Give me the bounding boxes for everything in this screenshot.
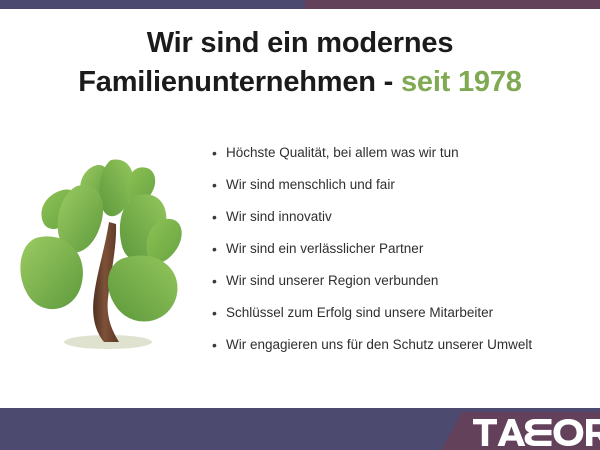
headline-line-2: Familienunternehmen - seit 1978	[0, 63, 600, 102]
headline-accent-year: seit 1978	[401, 66, 522, 98]
bullet-list: • Höchste Qualität, bei allem was wir tu…	[210, 142, 590, 366]
bullet-dot-icon: •	[210, 334, 226, 356]
tree-svg	[12, 140, 202, 352]
tree-illustration	[12, 140, 202, 352]
bullet-dot-icon: •	[210, 302, 226, 324]
brand-wordmark	[473, 419, 600, 446]
slide-headline: Wir sind ein modernes Familienunternehme…	[0, 24, 600, 103]
list-item: • Höchste Qualität, bei allem was wir tu…	[210, 142, 590, 174]
bullet-dot-icon: •	[210, 270, 226, 292]
list-item: • Wir sind menschlich und fair	[210, 174, 590, 206]
brand-logo-panel: tabor-mobile.de	[415, 408, 600, 450]
top-accent-bar	[0, 0, 600, 9]
list-item: • Wir sind innovativ	[210, 206, 590, 238]
list-item: • Wir sind ein verlässlicher Partner	[210, 238, 590, 270]
top-accent-bar-left	[0, 0, 305, 9]
bullet-dot-icon: •	[210, 174, 226, 196]
list-item: • Schlüssel zum Erfolg sind unsere Mitar…	[210, 302, 590, 334]
bullet-dot-icon: •	[210, 142, 226, 164]
slide-canvas: Wir sind ein modernes Familienunternehme…	[0, 0, 600, 450]
list-item: • Wir sind unserer Region verbunden	[210, 270, 590, 302]
footer-logo-block: tabor-mobile.de	[0, 408, 600, 450]
headline-line-1: Wir sind ein modernes	[0, 24, 600, 63]
bullet-text: Wir sind innovativ	[226, 206, 332, 228]
bullet-dot-icon: •	[210, 238, 226, 260]
bullet-text: Wir engagieren uns für den Schutz unsere…	[226, 334, 532, 356]
bullet-dot-icon: •	[210, 206, 226, 228]
bullet-text: Schlüssel zum Erfolg sind unsere Mitarbe…	[226, 302, 493, 324]
list-item: • Wir engagieren uns für den Schutz unse…	[210, 334, 590, 366]
footer-bar: tabor-mobile.de	[0, 408, 600, 450]
top-accent-bar-right	[305, 0, 600, 9]
bullet-text: Wir sind ein verlässlicher Partner	[226, 238, 423, 260]
bullet-text: Wir sind unserer Region verbunden	[226, 270, 438, 292]
bullet-text: Wir sind menschlich und fair	[226, 174, 395, 196]
bullet-text: Höchste Qualität, bei allem was wir tun	[226, 142, 459, 164]
headline-line-2-main: Familienunternehmen -	[78, 66, 401, 98]
